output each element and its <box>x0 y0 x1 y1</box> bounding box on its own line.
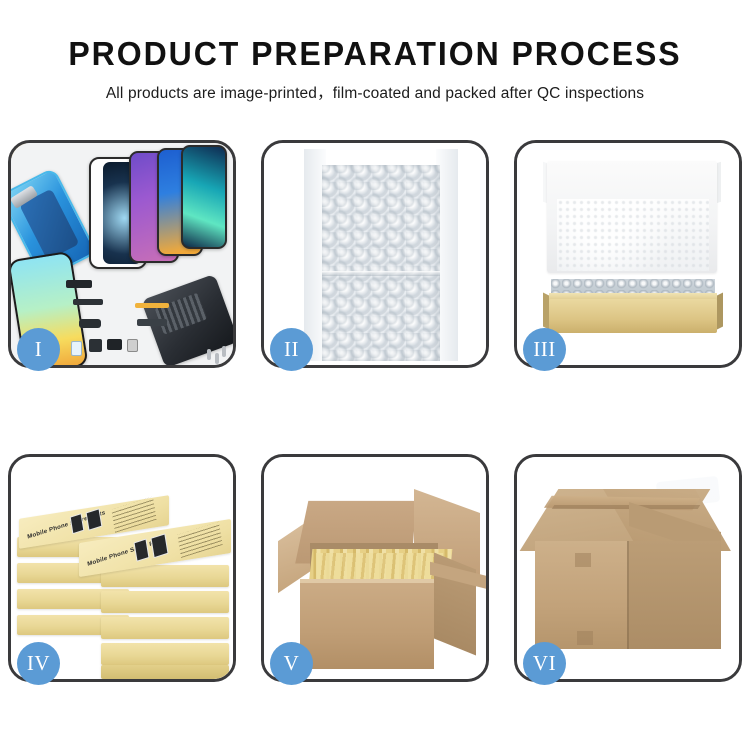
screw-part-3 <box>222 346 226 357</box>
page-subtitle: All products are image-printed，film-coat… <box>0 83 750 105</box>
process-step-panel-3[interactable]: III <box>514 140 742 368</box>
carton-handle-cutout-bottom <box>577 631 593 645</box>
flex-cable-part-3 <box>137 319 167 326</box>
process-step-grid: I II III <box>8 140 742 682</box>
bubble-wrap-body <box>322 165 440 361</box>
process-step-panel-6[interactable]: VI <box>514 454 742 682</box>
carton-front-face <box>300 583 434 669</box>
flex-cable-part-1 <box>73 299 103 305</box>
screw-part-2 <box>215 353 219 364</box>
small-component-1 <box>89 339 102 352</box>
screw-part-1 <box>207 349 211 360</box>
step-badge-5: V <box>270 642 313 685</box>
white-foam-sheet <box>557 199 709 271</box>
yellow-box-right-4 <box>101 591 229 613</box>
step-badge-4: IV <box>17 642 60 685</box>
yellow-box-right-1 <box>101 665 229 679</box>
page-title: PRODUCT PREPARATION PROCESS <box>11 34 739 74</box>
sealed-carton-right-face <box>629 541 721 649</box>
flex-cable-part-2 <box>135 303 169 308</box>
step-badge-6: VI <box>523 642 566 685</box>
sealed-carton-corner-edge <box>627 541 629 649</box>
small-component-3 <box>127 339 138 352</box>
kraft-tray-front <box>549 299 717 333</box>
process-step-panel-1[interactable]: I <box>8 140 236 368</box>
step-badge-3: III <box>523 328 566 371</box>
page-header: PRODUCT PREPARATION PROCESS All products… <box>0 0 750 105</box>
process-step-panel-4[interactable]: Mobile Phone Spare Parts Mobile Phone Sp… <box>8 454 236 682</box>
yellow-box-right-3 <box>101 617 229 639</box>
sealing-tape-seam <box>552 505 700 509</box>
step-badge-2: II <box>270 328 313 371</box>
process-step-panel-2[interactable]: II <box>261 140 489 368</box>
phone-teal-display <box>181 145 227 249</box>
flex-cable-part-4 <box>79 319 101 328</box>
small-component-4 <box>71 341 82 356</box>
carton-handle-cutout-top <box>575 553 591 567</box>
small-component-2 <box>107 339 122 350</box>
step-badge-1: I <box>17 328 60 371</box>
process-step-panel-5[interactable]: V <box>261 454 489 682</box>
bubble-wrap-crease <box>322 271 440 276</box>
yellow-box-right-2 <box>101 643 229 665</box>
camera-module-part <box>66 280 92 288</box>
